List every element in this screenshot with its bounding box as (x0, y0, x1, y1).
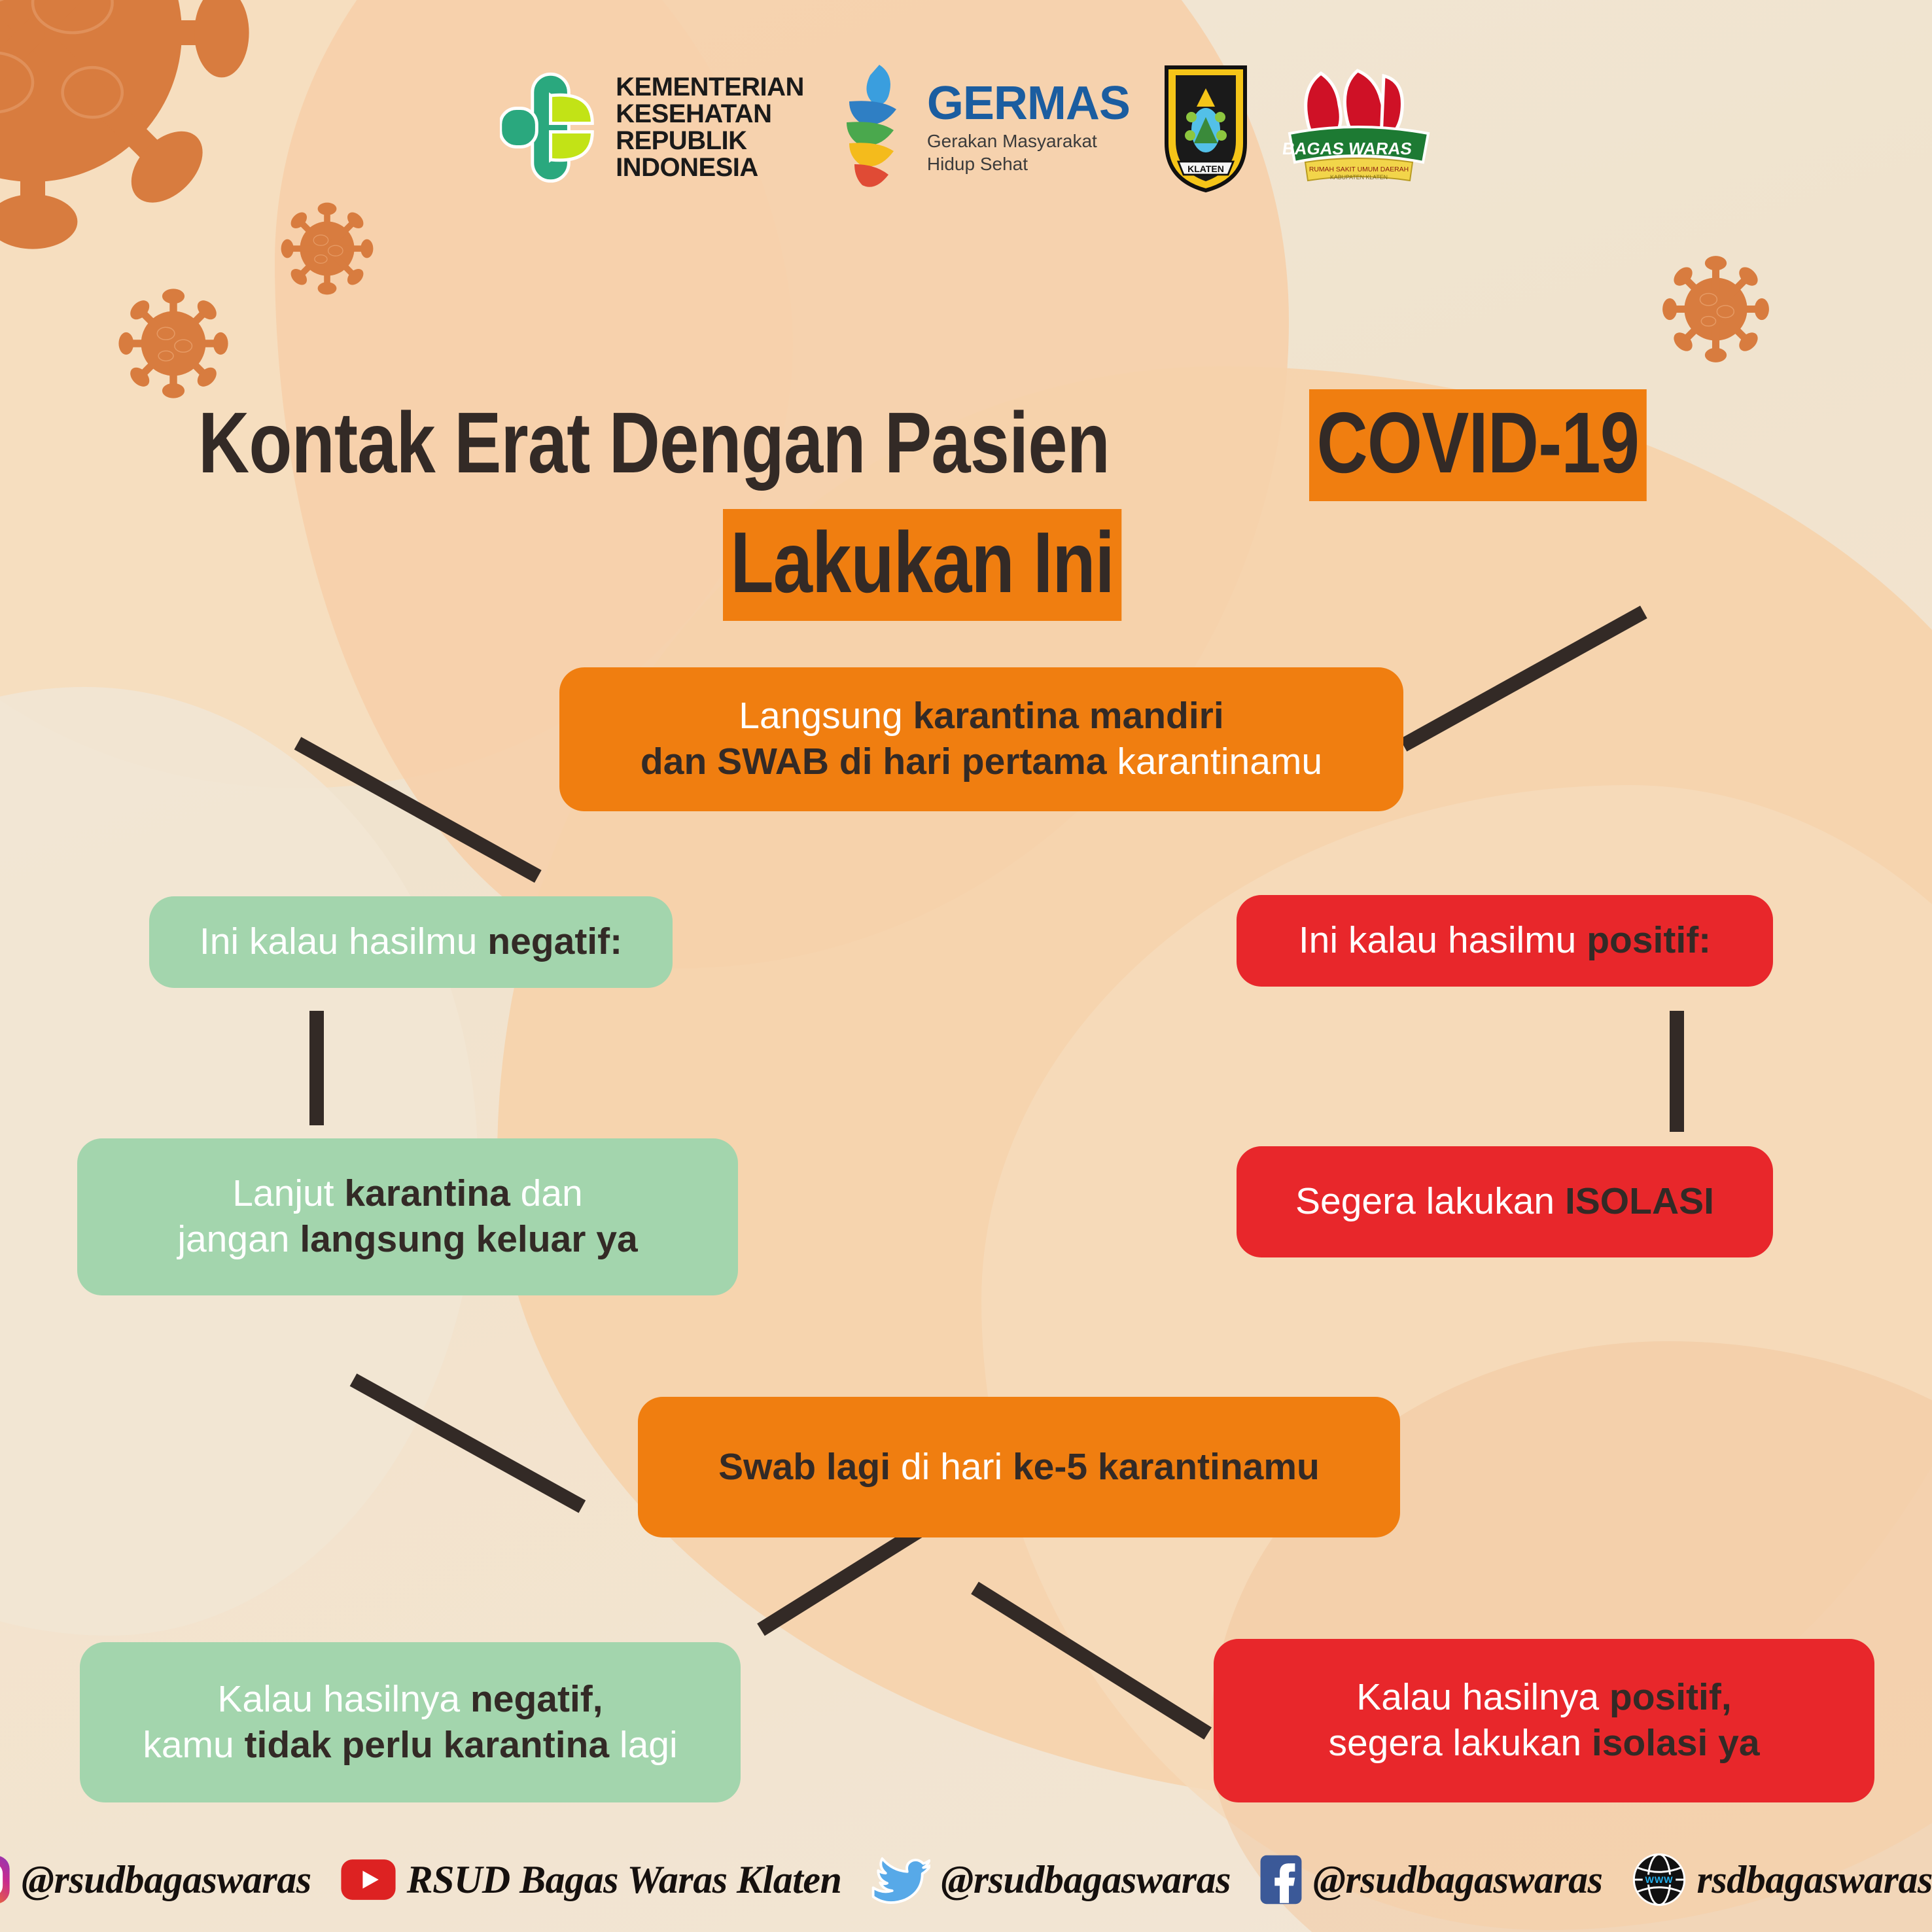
connector-line (309, 1011, 324, 1125)
flow-box-line: Lanjut karantina dan (177, 1171, 637, 1217)
text-segment: langsung keluar ya (300, 1218, 637, 1260)
text-segment: negatif, (470, 1678, 603, 1720)
text-segment: Kalau hasilnya (217, 1678, 470, 1720)
social-facebook[interactable]: @rsudbagaswaras (1259, 1854, 1603, 1905)
flow-box-initial-quarantine[interactable]: Langsung karantina mandiri dan SWAB di h… (559, 667, 1403, 811)
social-twitter[interactable]: @rsudbagaswaras (870, 1854, 1231, 1905)
text-segment: lagi (609, 1724, 678, 1766)
text-segment: ke-5 karantinamu (1013, 1446, 1320, 1488)
flow-box-line: jangan langsung keluar ya (177, 1217, 637, 1263)
flow-box-line: kamu tidak perlu karantina lagi (143, 1723, 677, 1768)
virus-icon (1655, 249, 1776, 370)
flow-box-line: Kalau hasilnya negatif, (143, 1677, 677, 1723)
twitter-icon[interactable] (870, 1854, 930, 1905)
title-line1-plain: Kontak Erat Dengan Pasien (198, 393, 1110, 492)
text-segment: Ini kalau hasilmu (200, 921, 487, 962)
germas-logo: GERMAS Gerakan Masyarakat Hidup Sehat (834, 62, 1130, 193)
instagram-icon[interactable] (0, 1854, 11, 1905)
facebook-handle: @rsudbagaswaras (1313, 1857, 1603, 1903)
germas-subtitle: Gerakan Masyarakat Hidup Sehat (927, 130, 1130, 175)
bagas-waras-sub2: KABUPATEN KLATEN (1330, 174, 1388, 181)
virus-icon (111, 281, 236, 406)
text-segment: Lanjut (232, 1172, 344, 1214)
kemenkes-logo-icon (500, 72, 608, 183)
klaten-regency-crest-icon: KLATEN (1160, 62, 1252, 193)
connector-line (1670, 1011, 1684, 1132)
flow-box-swab-day5[interactable]: Swab lagi di hari ke-5 karantinamu (638, 1397, 1400, 1537)
logo-row: KEMENTERIAN KESEHATAN REPUBLIK INDONESIA… (0, 46, 1932, 209)
infographic-poster: KEMENTERIAN KESEHATAN REPUBLIK INDONESIA… (0, 0, 1932, 1932)
website-handle: rsdbagaswaras.id (1697, 1857, 1932, 1903)
www-label: WWW (1645, 1875, 1673, 1886)
text-segment: Ini kalau hasilmu (1299, 919, 1587, 961)
flow-box-isolation[interactable]: Segera lakukan ISOLASI (1237, 1146, 1773, 1257)
germas-word: GERMAS (927, 80, 1130, 127)
youtube-handle: RSUD Bagas Waras Klaten (407, 1857, 842, 1903)
twitter-handle: @rsudbagaswaras (941, 1857, 1231, 1903)
text-segment: ISOLASI (1565, 1180, 1714, 1222)
youtube-icon[interactable] (340, 1858, 396, 1901)
flow-box-negative-label[interactable]: Ini kalau hasilmu negatif: (149, 896, 673, 988)
facebook-icon[interactable] (1259, 1854, 1303, 1905)
title-line1-highlight: COVID-19 (1309, 389, 1647, 501)
bagas-waras-sub: RUMAH SAKIT UMUM DAERAH (1309, 166, 1409, 173)
flow-box-positive-label[interactable]: Ini kalau hasilmu positif: (1237, 895, 1773, 987)
text-segment: segera lakukan (1328, 1722, 1591, 1764)
text-segment: Segera lakukan (1295, 1180, 1565, 1222)
page-title: Kontak Erat Dengan Pasien COVID-19 Lakuk… (0, 389, 1932, 621)
text-segment: isolasi ya (1592, 1722, 1760, 1764)
text-segment: Langsung (739, 695, 913, 737)
social-instagram[interactable]: @rsudbagaswaras (0, 1854, 311, 1905)
flow-box-line: Langsung karantina mandiri (641, 694, 1322, 739)
text-segment: karantina (344, 1172, 510, 1214)
text-segment: karantina mandiri (913, 695, 1224, 737)
bagas-waras-logo: BAGAS WARAS RUMAH SAKIT UMUM DAERAH KABU… (1282, 65, 1432, 190)
social-website[interactable]: WWW rsdbagaswaras.id (1632, 1852, 1932, 1907)
kemenkes-line-2: KESEHATAN (616, 101, 804, 128)
kemenkes-line-4: INDONESIA (616, 154, 804, 181)
bagas-waras-name: BAGAS WARAS (1282, 139, 1413, 158)
instagram-handle: @rsudbagaswaras (22, 1857, 311, 1903)
text-segment: positif: (1587, 919, 1711, 961)
kemenkes-line-1: KEMENTERIAN (616, 74, 804, 101)
flow-box-negative-final[interactable]: Kalau hasilnya negatif, kamu tidak perlu… (80, 1642, 741, 1802)
text-segment: tidak perlu karantina (245, 1724, 610, 1766)
text-segment: karantinamu (1117, 741, 1322, 782)
text-segment: Swab lagi (718, 1446, 901, 1488)
kemenkes-logo: KEMENTERIAN KESEHATAN REPUBLIK INDONESIA (500, 72, 804, 183)
text-segment: kamu (143, 1724, 244, 1766)
social-media-bar: @rsudbagaswaras RSUD Bagas Waras Klaten … (0, 1852, 1932, 1907)
text-segment: negatif: (487, 921, 622, 962)
kemenkes-line-3: REPUBLIK (616, 128, 804, 154)
flow-box-line: Kalau hasilnya positif, (1328, 1675, 1759, 1721)
text-segment: di hari (901, 1446, 1013, 1488)
flow-box-line: dan SWAB di hari pertama karantinamu (641, 739, 1322, 785)
text-segment: positif, (1609, 1676, 1732, 1718)
germas-sub-line-2: Hidup Sehat (927, 152, 1130, 175)
flow-box-positive-final[interactable]: Kalau hasilnya positif, segera lakukan i… (1214, 1639, 1874, 1802)
text-segment: dan SWAB di hari pertama (641, 741, 1117, 782)
germas-logo-icon (834, 62, 919, 193)
klaten-crest: KLATEN (1160, 62, 1252, 193)
klaten-caption: KLATEN (1187, 164, 1224, 174)
flow-box-line: segera lakukan isolasi ya (1328, 1721, 1759, 1766)
social-youtube[interactable]: RSUD Bagas Waras Klaten (340, 1857, 842, 1903)
germas-sub-line-1: Gerakan Masyarakat (927, 130, 1130, 152)
rsud-bagas-waras-logo-icon: BAGAS WARAS RUMAH SAKIT UMUM DAERAH KABU… (1282, 65, 1432, 190)
globe-www-icon[interactable]: WWW (1632, 1852, 1687, 1907)
flow-box-continue-quarantine[interactable]: Lanjut karantina dan jangan langsung kel… (77, 1138, 738, 1295)
text-segment: Kalau hasilnya (1356, 1676, 1609, 1718)
kemenkes-logo-text: KEMENTERIAN KESEHATAN REPUBLIK INDONESIA (616, 74, 804, 181)
title-line2-highlight: Lakukan Ini (723, 509, 1121, 621)
virus-icon (275, 196, 379, 301)
text-segment: dan (510, 1172, 583, 1214)
text-segment: jangan (177, 1218, 300, 1260)
